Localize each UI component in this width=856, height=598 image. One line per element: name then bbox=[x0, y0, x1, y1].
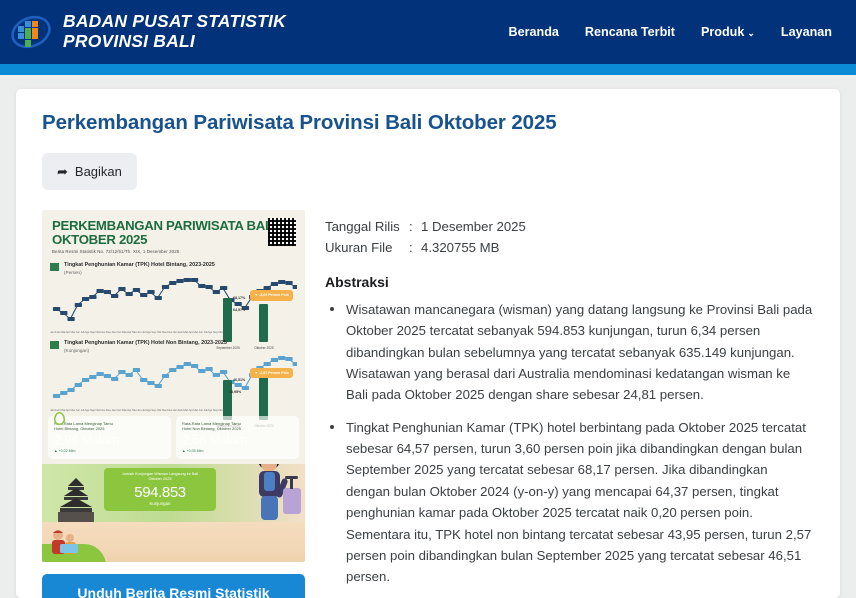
release-date-label: Tanggal Rilis bbox=[325, 216, 409, 237]
beach-illustration bbox=[42, 522, 305, 562]
share-button[interactable]: ➦ Bagikan bbox=[42, 153, 137, 190]
release-date-separator: : bbox=[409, 216, 421, 237]
file-size-separator: : bbox=[409, 237, 421, 258]
site-header: BADAN PUSAT STATISTIK PROVINSI BALI Bera… bbox=[0, 0, 856, 64]
stat-bintang-value: 2,94 Malam bbox=[54, 432, 165, 447]
infographic-column: PERKEMBANGAN PARIWISATA BALI OKTOBER 202… bbox=[42, 210, 305, 598]
length-of-stay-stats: Rata-Rata Lama Menginap Tamu Hotel Binta… bbox=[48, 416, 299, 459]
file-size-row: Ukuran File : 4.320755 MB bbox=[325, 237, 814, 258]
chart1-delta-badge: ▼ -3,60 Persen Poin bbox=[250, 290, 293, 300]
infographic-header: PERKEMBANGAN PARIWISATA BALI OKTOBER 202… bbox=[42, 210, 305, 260]
visits-box: Jumlah Kunjungan Wisman Langsung ke Bali… bbox=[104, 468, 216, 510]
visits-band: Jumlah Kunjungan Wisman Langsung ke Bali… bbox=[42, 464, 305, 522]
abstract-heading: Abstraksi bbox=[325, 274, 814, 290]
abstract-bullet: Tingkat Penghunian Kamar (TPK) hotel ber… bbox=[325, 417, 814, 588]
chart1-bar-curr bbox=[259, 304, 268, 342]
infographic-subtitle: Berita Resmi Statistik No. 72/12/51/Th. … bbox=[52, 249, 295, 254]
nav-item-rencana-terbit[interactable]: Rencana Terbit bbox=[585, 25, 675, 39]
nav-label-beranda: Beranda bbox=[509, 25, 559, 39]
release-date-row: Tanggal Rilis : 1 Desember 2025 bbox=[325, 216, 814, 237]
chart1-title: Tingkat Penghunian Kamar (TPK) Hotel Bin… bbox=[64, 262, 215, 269]
nav-item-produk[interactable]: Produk ⌄ bbox=[701, 25, 755, 39]
qr-code-icon bbox=[268, 218, 296, 246]
visits-value: 594.853 bbox=[110, 484, 210, 501]
chart2-delta-badge: ▼ -2,57 Persen Poin bbox=[250, 368, 293, 378]
nav-item-beranda[interactable]: Beranda bbox=[509, 25, 559, 39]
tourists-icon bbox=[46, 528, 90, 558]
share-arrow-icon: ➦ bbox=[57, 165, 68, 178]
accent-strip bbox=[0, 64, 856, 75]
content-columns: PERKEMBANGAN PARIWISATA BALI OKTOBER 202… bbox=[42, 210, 814, 598]
stat-bintang-caption: Rata-Rata Lama Menginap Tamu Hotel Binta… bbox=[54, 421, 165, 431]
nav-label-rencana-terbit: Rencana Terbit bbox=[585, 25, 675, 39]
details-column: Tanggal Rilis : 1 Desember 2025 Ukuran F… bbox=[325, 210, 814, 598]
page-container: Perkembangan Pariwisata Provinsi Bali Ok… bbox=[0, 75, 856, 598]
chart-block-non-bintang: Tingkat Penghunian Kamar (TPK) Hotel Non… bbox=[42, 338, 305, 412]
chart2-value-prev: 43,95% bbox=[229, 390, 241, 394]
brand-block[interactable]: BADAN PUSAT STATISTIK PROVINSI BALI bbox=[10, 12, 286, 52]
stat-non-bintang-value: 2,58 Malam bbox=[182, 432, 293, 447]
abstract-list: Wisatawan mancanegara (wisman) yang data… bbox=[325, 299, 814, 588]
chart1-plot: 68,17% 64,57% September 2025 Oktober 202… bbox=[50, 278, 297, 330]
chart2-title: Tingkat Penghunian Kamar (TPK) Hotel Non… bbox=[64, 340, 227, 347]
map-pin-icon bbox=[54, 412, 65, 425]
stat-bintang-delta: ▲ +0,02 Mlm bbox=[54, 449, 165, 453]
stat-card-non-bintang: Rata-Rata Lama Menginap Tamu Hotel Non B… bbox=[176, 416, 299, 459]
chart2-unit: (Kunjungan) bbox=[64, 348, 297, 354]
stat-non-bintang-delta: ▲ +0,05 Mlm bbox=[182, 449, 293, 453]
chart2-value-curr: 46,51% bbox=[233, 378, 245, 382]
abstract-bullet: Wisatawan mancanegara (wisman) yang data… bbox=[325, 299, 814, 406]
infographic-thumbnail[interactable]: PERKEMBANGAN PARIWISATA BALI OKTOBER 202… bbox=[42, 210, 305, 562]
chart1-unit: (Persen) bbox=[64, 270, 297, 276]
main-nav: Beranda Rencana Terbit Produk ⌄ Layanan bbox=[509, 25, 833, 39]
brand-title: BADAN PUSAT STATISTIK PROVINSI BALI bbox=[63, 12, 286, 51]
traveler-illustration bbox=[239, 464, 303, 520]
release-date-value: 1 Desember 2025 bbox=[421, 216, 526, 237]
download-brs-button[interactable]: Unduh Berita Resmi Statistik bbox=[42, 574, 305, 598]
chart1-value-curr: 64,57% bbox=[233, 308, 245, 312]
legend-swatch-icon bbox=[50, 341, 59, 349]
share-button-label: Bagikan bbox=[75, 164, 122, 179]
pura-temple-icon bbox=[48, 476, 104, 522]
file-size-label: Ukuran File bbox=[325, 237, 409, 258]
stat-card-bintang: Rata-Rata Lama Menginap Tamu Hotel Binta… bbox=[48, 416, 171, 459]
content-card: Perkembangan Pariwisata Provinsi Bali Ok… bbox=[16, 89, 840, 598]
chart2-bar-prev bbox=[223, 380, 232, 420]
nav-label-produk: Produk bbox=[701, 25, 744, 39]
chart1-bar-prev bbox=[223, 298, 232, 342]
chart2-plot: 46,51% 43,95% September 2025 Oktober 202… bbox=[50, 356, 297, 408]
bps-logo-icon bbox=[10, 12, 52, 52]
visits-unit: Kunjungan bbox=[110, 501, 210, 506]
chart1-value-prev: 68,17% bbox=[233, 296, 245, 300]
chart2-bar-curr bbox=[259, 376, 268, 420]
visits-caption: Jumlah Kunjungan Wisman Langsung ke Bali… bbox=[110, 472, 210, 482]
file-size-value: 4.320755 MB bbox=[421, 237, 499, 258]
legend-swatch-icon bbox=[50, 263, 59, 271]
page-title: Perkembangan Pariwisata Provinsi Bali Ok… bbox=[42, 111, 814, 135]
nav-label-layanan: Layanan bbox=[781, 25, 832, 39]
nav-item-layanan[interactable]: Layanan bbox=[781, 25, 832, 39]
chart-block-bintang: Tingkat Penghunian Kamar (TPK) Hotel Bin… bbox=[42, 260, 305, 334]
chevron-down-icon: ⌄ bbox=[747, 29, 755, 38]
infographic-title: PERKEMBANGAN PARIWISATA BALI OKTOBER 202… bbox=[52, 219, 295, 246]
stat-non-bintang-caption: Rata-Rata Lama Menginap Tamu Hotel Non B… bbox=[182, 421, 293, 431]
